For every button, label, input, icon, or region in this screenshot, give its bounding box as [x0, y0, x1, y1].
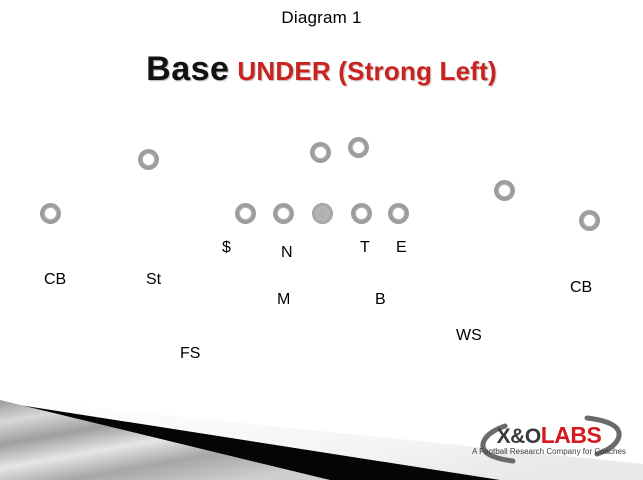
player-marker-strong-safety: [138, 149, 159, 170]
position-label-right-cornerback: CB: [570, 280, 592, 296]
position-label-end: E: [396, 240, 407, 256]
player-marker-center-ball: [312, 203, 333, 224]
player-marker-weak-safety: [494, 180, 515, 201]
position-label-free-safety: FS: [180, 346, 200, 362]
logo-tagline: A Football Research Company for Coaches: [469, 447, 629, 456]
player-marker-nose-tackle: [273, 203, 294, 224]
position-label-strong-safety: St: [146, 272, 161, 288]
position-label-weak-safety: WS: [456, 328, 482, 344]
slide-canvas: Diagram 1 BaseUNDER (Strong Left) CBSt$N…: [0, 0, 643, 480]
player-marker-mike-linebacker: [310, 142, 331, 163]
position-label-sam-linebacker: $: [222, 240, 231, 256]
position-label-tackle: T: [360, 240, 370, 256]
formation-field: CBSt$NTEMBWSCBFS: [0, 0, 643, 400]
position-label-buck-linebacker: B: [375, 292, 386, 308]
logo-wordmark: X&OLABS: [475, 424, 623, 447]
xo-labs-logo: X&OLABS A Football Research Company for …: [469, 414, 629, 466]
player-marker-tackle: [351, 203, 372, 224]
footer-black-wedge: [0, 402, 500, 480]
player-marker-right-cornerback: [579, 210, 600, 231]
logo-labs-text: LABS: [541, 422, 602, 448]
player-marker-sam-linebacker: [235, 203, 256, 224]
player-marker-buck-linebacker: [348, 137, 369, 158]
position-label-nose-tackle: N: [281, 245, 293, 261]
position-label-mike-linebacker: M: [277, 292, 290, 308]
footer-gray-band: [0, 400, 330, 480]
position-label-left-cornerback: CB: [44, 272, 66, 288]
player-marker-left-cornerback: [40, 203, 61, 224]
player-marker-end: [388, 203, 409, 224]
logo-xo-text: X&O: [497, 425, 541, 448]
